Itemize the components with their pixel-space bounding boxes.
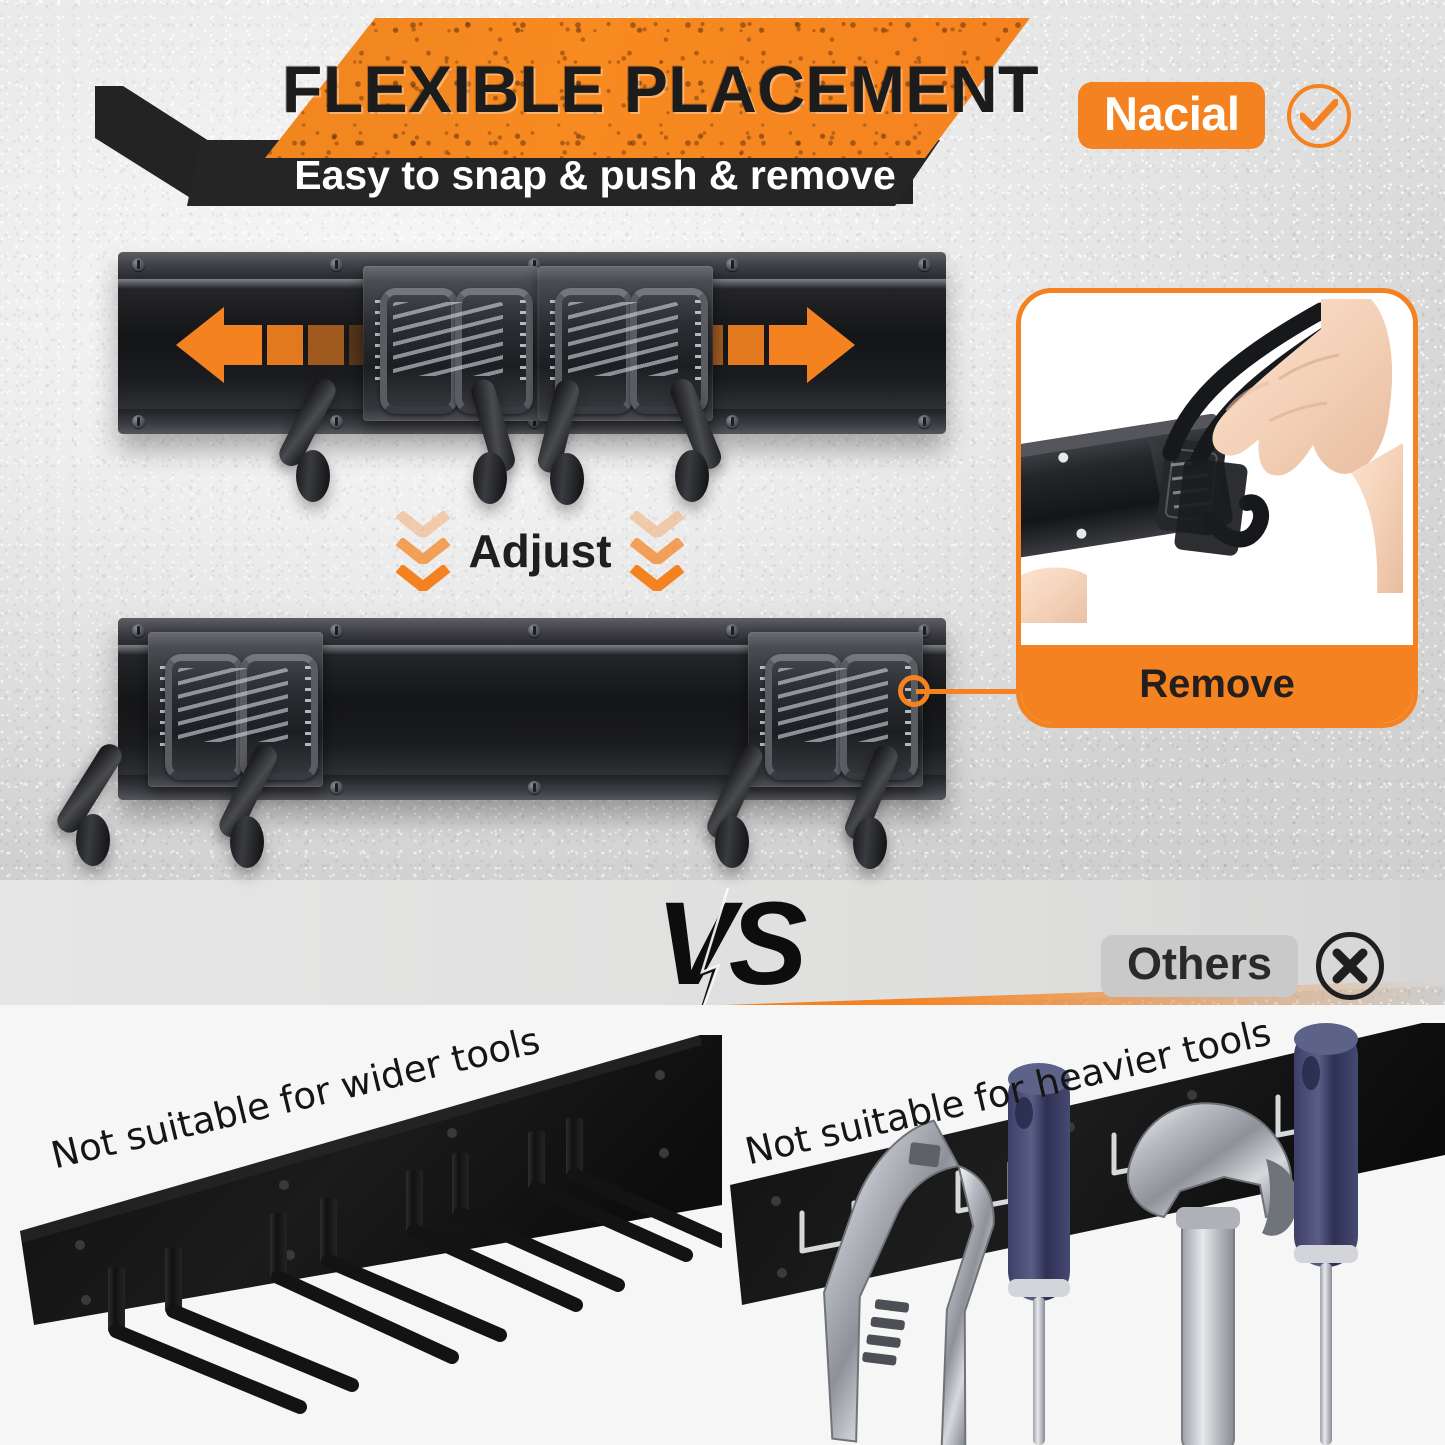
others-badge: Others xyxy=(1101,932,1384,1000)
hook-tip xyxy=(473,452,507,504)
hook-assembly[interactable] xyxy=(148,632,323,787)
rail-screw xyxy=(330,415,343,428)
arrow-head-left xyxy=(176,307,224,383)
arrow-seg xyxy=(728,325,764,365)
chevron-down-icon xyxy=(395,511,451,537)
hook-tip xyxy=(230,816,264,868)
comparison-panel-right: Not suitable for heavier tools xyxy=(722,1005,1445,1445)
hook-tip xyxy=(76,814,110,866)
chevron-down-icon xyxy=(629,565,685,591)
comparison-panel-left: Not suitable for wider tools xyxy=(0,1005,722,1445)
hook-assembly[interactable] xyxy=(363,266,538,421)
arrow-tail xyxy=(224,325,262,365)
rail-screw xyxy=(726,624,739,637)
hook-grip-ridges xyxy=(778,668,888,742)
arrow-head-right xyxy=(807,307,855,383)
chevron-down-icon-group-right xyxy=(629,511,685,591)
slide-left-arrow xyxy=(176,307,383,383)
rail-screw xyxy=(918,258,931,271)
callout-connector-line xyxy=(916,689,1028,694)
rail-screw xyxy=(918,415,931,428)
hook-grip-ridges xyxy=(393,302,503,376)
hook-tip xyxy=(550,453,584,505)
chevron-down-icon xyxy=(629,538,685,564)
rail-screw xyxy=(726,258,739,271)
chevron-down-icon xyxy=(395,565,451,591)
rail-screw xyxy=(132,415,145,428)
adjust-label: Adjust xyxy=(468,524,611,578)
remove-photo xyxy=(1021,293,1413,645)
arrow-tail xyxy=(769,325,807,365)
rail-screw xyxy=(528,781,541,794)
infographic-root: FLEXIBLE PLACEMENT Easy to snap & push &… xyxy=(0,0,1445,1445)
rail-screw xyxy=(726,415,739,428)
hook-assembly[interactable] xyxy=(748,632,923,787)
rail-bottom xyxy=(118,618,946,800)
rail-screw xyxy=(330,258,343,271)
others-name: Others xyxy=(1101,935,1298,998)
callout-label: Remove xyxy=(1021,645,1413,723)
rail-top xyxy=(118,252,946,434)
page-title: FLEXIBLE PLACEMENT xyxy=(288,44,1033,134)
rail-screw xyxy=(330,624,343,637)
page-subtitle: Easy to snap & push & remove xyxy=(245,146,945,204)
chevron-down-icon-group-left xyxy=(395,511,451,591)
brand-name: Nacial xyxy=(1078,82,1265,149)
headline-banner: FLEXIBLE PLACEMENT Easy to snap & push &… xyxy=(95,18,1030,203)
rail-screw xyxy=(330,781,343,794)
hook-grip-ridges xyxy=(178,668,288,742)
check-circle-icon xyxy=(1287,84,1351,148)
hook-tip xyxy=(853,817,887,869)
hook-grip-ridges xyxy=(568,302,678,376)
brand-badge: Nacial xyxy=(1078,82,1351,149)
rail-screw xyxy=(528,624,541,637)
arrow-seg xyxy=(267,325,303,365)
chevron-down-icon xyxy=(395,538,451,564)
rail-screw xyxy=(132,258,145,271)
arrow-seg xyxy=(308,325,344,365)
rail-screw xyxy=(132,624,145,637)
x-circle-icon xyxy=(1316,932,1384,1000)
adjust-indicator: Adjust xyxy=(395,505,685,597)
remove-callout: Remove xyxy=(1016,288,1418,728)
hook-tip xyxy=(296,450,330,502)
hook-tip xyxy=(715,816,749,868)
chevron-down-icon xyxy=(629,511,685,537)
hook-tip xyxy=(675,450,709,502)
callout-connector-dot xyxy=(898,675,930,707)
vs-label: VS xyxy=(656,880,807,1010)
